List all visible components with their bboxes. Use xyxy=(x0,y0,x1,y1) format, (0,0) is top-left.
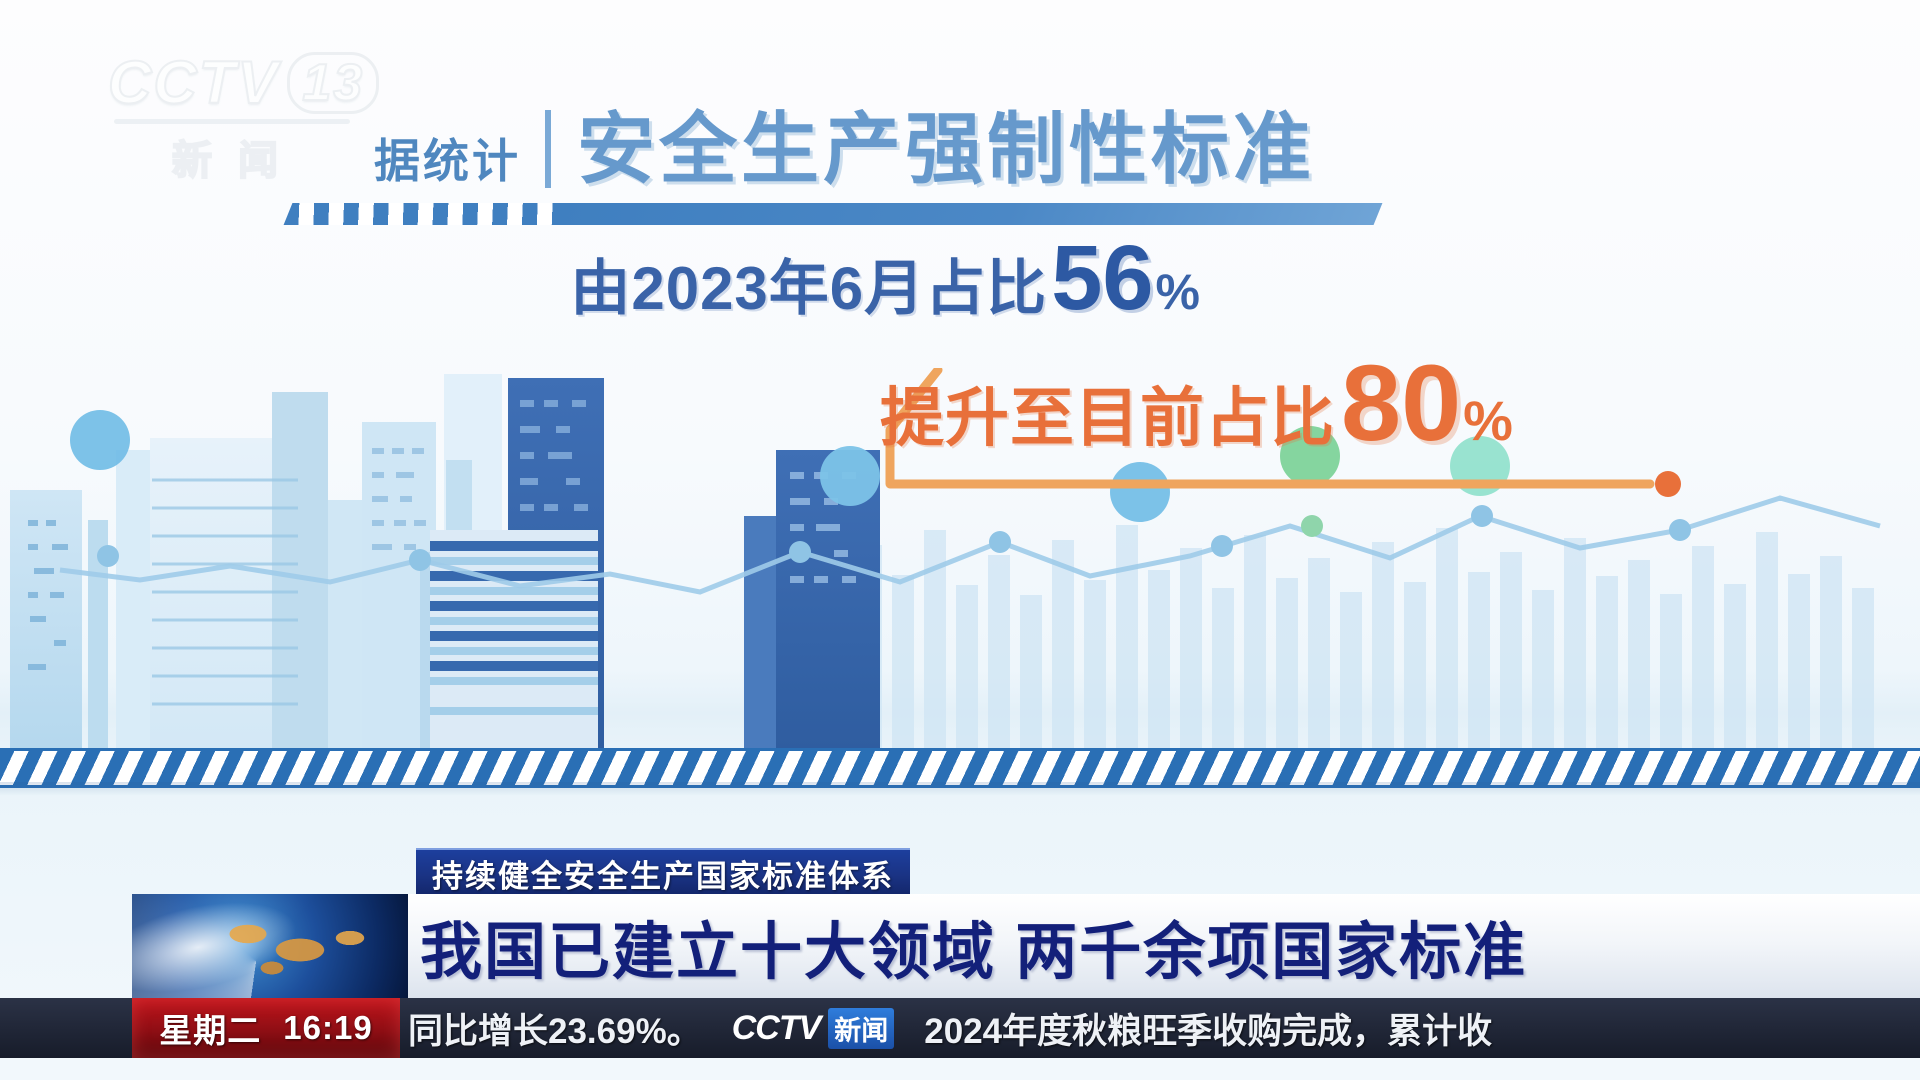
ticker-weekday: 星期二 xyxy=(159,1004,261,1052)
news-ticker-bar: 星期二 16:19 同比增长23.69%。 CCTV 新闻 2024年度秋粮旺季… xyxy=(0,998,1920,1058)
watermark-cctv-wordmark: CCTV 13 xyxy=(108,48,368,117)
headline-lead: 据统计 xyxy=(374,138,545,188)
lower-third-title: 我国已建立十大领域 两千余项国家标准 xyxy=(420,901,1527,991)
ticker-cctv-news-logo: CCTV 新闻 xyxy=(728,1008,899,1049)
headline-group: 据统计 安全生产强制性标准 xyxy=(374,110,1315,188)
underline-solid xyxy=(554,203,1383,225)
ticker-clock: 星期二 16:19 xyxy=(132,998,400,1058)
hazard-shadow xyxy=(0,782,1920,796)
stat-line-previous: 由2023年6月占比 56 % xyxy=(560,226,1200,316)
ticker-scroll-area[interactable]: 同比增长23.69%。 CCTV 新闻 2024年度秋粮旺季收购完成，累计收 xyxy=(400,998,1920,1058)
lower-third-tag: 持续健全安全生产国家标准体系 xyxy=(416,848,910,896)
stat-current-unit: % xyxy=(1463,388,1513,453)
ticker-previous-item: 同比增长23.69%。 xyxy=(408,1003,702,1054)
stat-previous-label: 由2023年6月占比 xyxy=(570,240,1047,327)
lower-third-tag-label: 持续健全安全生产国家标准体系 xyxy=(432,851,894,896)
ticker-brand-news: 新闻 xyxy=(828,1008,894,1049)
headline-main: 安全生产强制性标准 xyxy=(577,110,1315,188)
ticker-left-pad xyxy=(0,998,132,1058)
channel-watermark: CCTV 13 新闻 xyxy=(108,48,368,166)
headline-underline-bar xyxy=(288,200,1378,228)
underline-stripes xyxy=(284,203,565,225)
stat-current-value: 80 xyxy=(1341,340,1461,465)
ticker-brand-cctv: CCTV xyxy=(732,1009,821,1048)
ticker-time: 16:19 xyxy=(283,1009,372,1047)
watermark-cctv-text: CCTV xyxy=(108,48,279,117)
broadcast-screen: CCTV 13 新闻 据统计 安全生产强制性标准 由2023年6月占比 56 %… xyxy=(0,0,1920,1080)
stat-previous-unit: % xyxy=(1156,263,1200,321)
lower-third-globe-graphic xyxy=(132,894,408,998)
watermark-underline xyxy=(114,119,350,124)
ticker-next-item: 2024年度秋粮旺季收购完成，累计收 xyxy=(924,1003,1492,1054)
stat-previous-value: 56 xyxy=(1051,226,1153,331)
headline-separator xyxy=(545,110,551,188)
watermark-channel-number: 13 xyxy=(287,52,379,114)
globe-landmass xyxy=(228,920,378,982)
watermark-sub-label: 新闻 xyxy=(108,128,368,186)
stat-current-label: 提升至目前占比 xyxy=(880,367,1335,459)
stat-line-current: 提升至目前占比 80 % xyxy=(880,340,1440,440)
